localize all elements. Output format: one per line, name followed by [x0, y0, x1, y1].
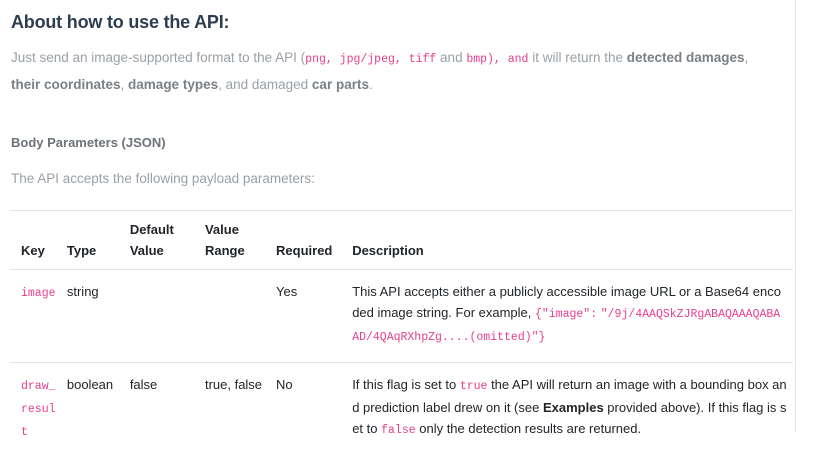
cell-required: Yes — [276, 270, 352, 363]
body-parameters-table: Key Type Default Value Value Range Requi… — [10, 210, 793, 457]
description-text-4: only the detection results are returned. — [416, 421, 641, 436]
intro-sep-2: , — [121, 77, 129, 92]
cell-description: This API accepts either a publicly acces… — [352, 270, 793, 363]
cell-default-value — [130, 270, 205, 363]
column-header-key: Key — [10, 211, 67, 270]
intro-paragraph: Just send an image-supported format to t… — [11, 45, 751, 97]
intro-text-1: Just send an image-supported format to t… — [11, 50, 305, 65]
column-header-type: Type — [67, 211, 130, 270]
table-row: draw_result boolean false true, false No… — [10, 363, 793, 457]
column-header-description: Description — [352, 211, 793, 270]
description-code-image-key: {"image": — [535, 308, 597, 321]
column-header-value-range: Value Range — [205, 211, 276, 270]
intro-code-bmp: bmp), and — [466, 53, 528, 66]
intro-text-2: it will return the — [528, 50, 626, 65]
param-key-draw-result: draw_result — [21, 380, 56, 439]
content-column-divider — [795, 0, 796, 432]
description-text-1: If this flag is set to — [352, 377, 460, 392]
table-row: image string Yes This API accepts either… — [10, 270, 793, 363]
description-code-true: true — [460, 380, 488, 393]
intro-bold-their-coordinates: their coordinates — [11, 77, 121, 92]
intro-sep-3: , and damaged — [218, 77, 312, 92]
intro-sep-1: , — [745, 50, 749, 65]
cell-type: string — [67, 270, 130, 363]
section-title-body-parameters: Body Parameters (JSON) — [11, 135, 783, 151]
cell-required: No — [276, 363, 352, 457]
description-code-false: false — [381, 424, 416, 437]
table-body: image string Yes This API accepts either… — [10, 270, 793, 457]
intro-text-and: and — [436, 50, 466, 65]
intro-bold-damage-types: damage types — [128, 77, 218, 92]
intro-bold-car-parts: car parts — [312, 77, 369, 92]
page-title: About how to use the API: — [11, 11, 783, 33]
cell-key: draw_result — [10, 363, 67, 457]
table-header-row: Key Type Default Value Value Range Requi… — [10, 211, 793, 270]
section-subtitle: The API accepts the following payload pa… — [11, 169, 783, 189]
cell-key: image — [10, 270, 67, 363]
column-header-default-value: Default Value — [130, 211, 205, 270]
table-header: Key Type Default Value Value Range Requi… — [10, 211, 793, 270]
intro-bold-detected-damages: detected damages — [627, 50, 745, 65]
column-header-required: Required — [276, 211, 352, 270]
cell-value-range: true, false — [205, 363, 276, 457]
api-docs-page: About how to use the API: Just send an i… — [0, 0, 813, 432]
param-key-image: image — [21, 287, 56, 300]
intro-code-formats: png, jpg/jpeg, tiff — [305, 53, 436, 66]
cell-default-value: false — [130, 363, 205, 457]
description-bold-examples: Examples — [543, 400, 604, 415]
intro-text-end: . — [369, 77, 373, 92]
cell-value-range — [205, 270, 276, 363]
cell-description: If this flag is set to true the API will… — [352, 363, 793, 457]
cell-type: boolean — [67, 363, 130, 457]
content-column: About how to use the API: Just send an i… — [0, 0, 795, 457]
